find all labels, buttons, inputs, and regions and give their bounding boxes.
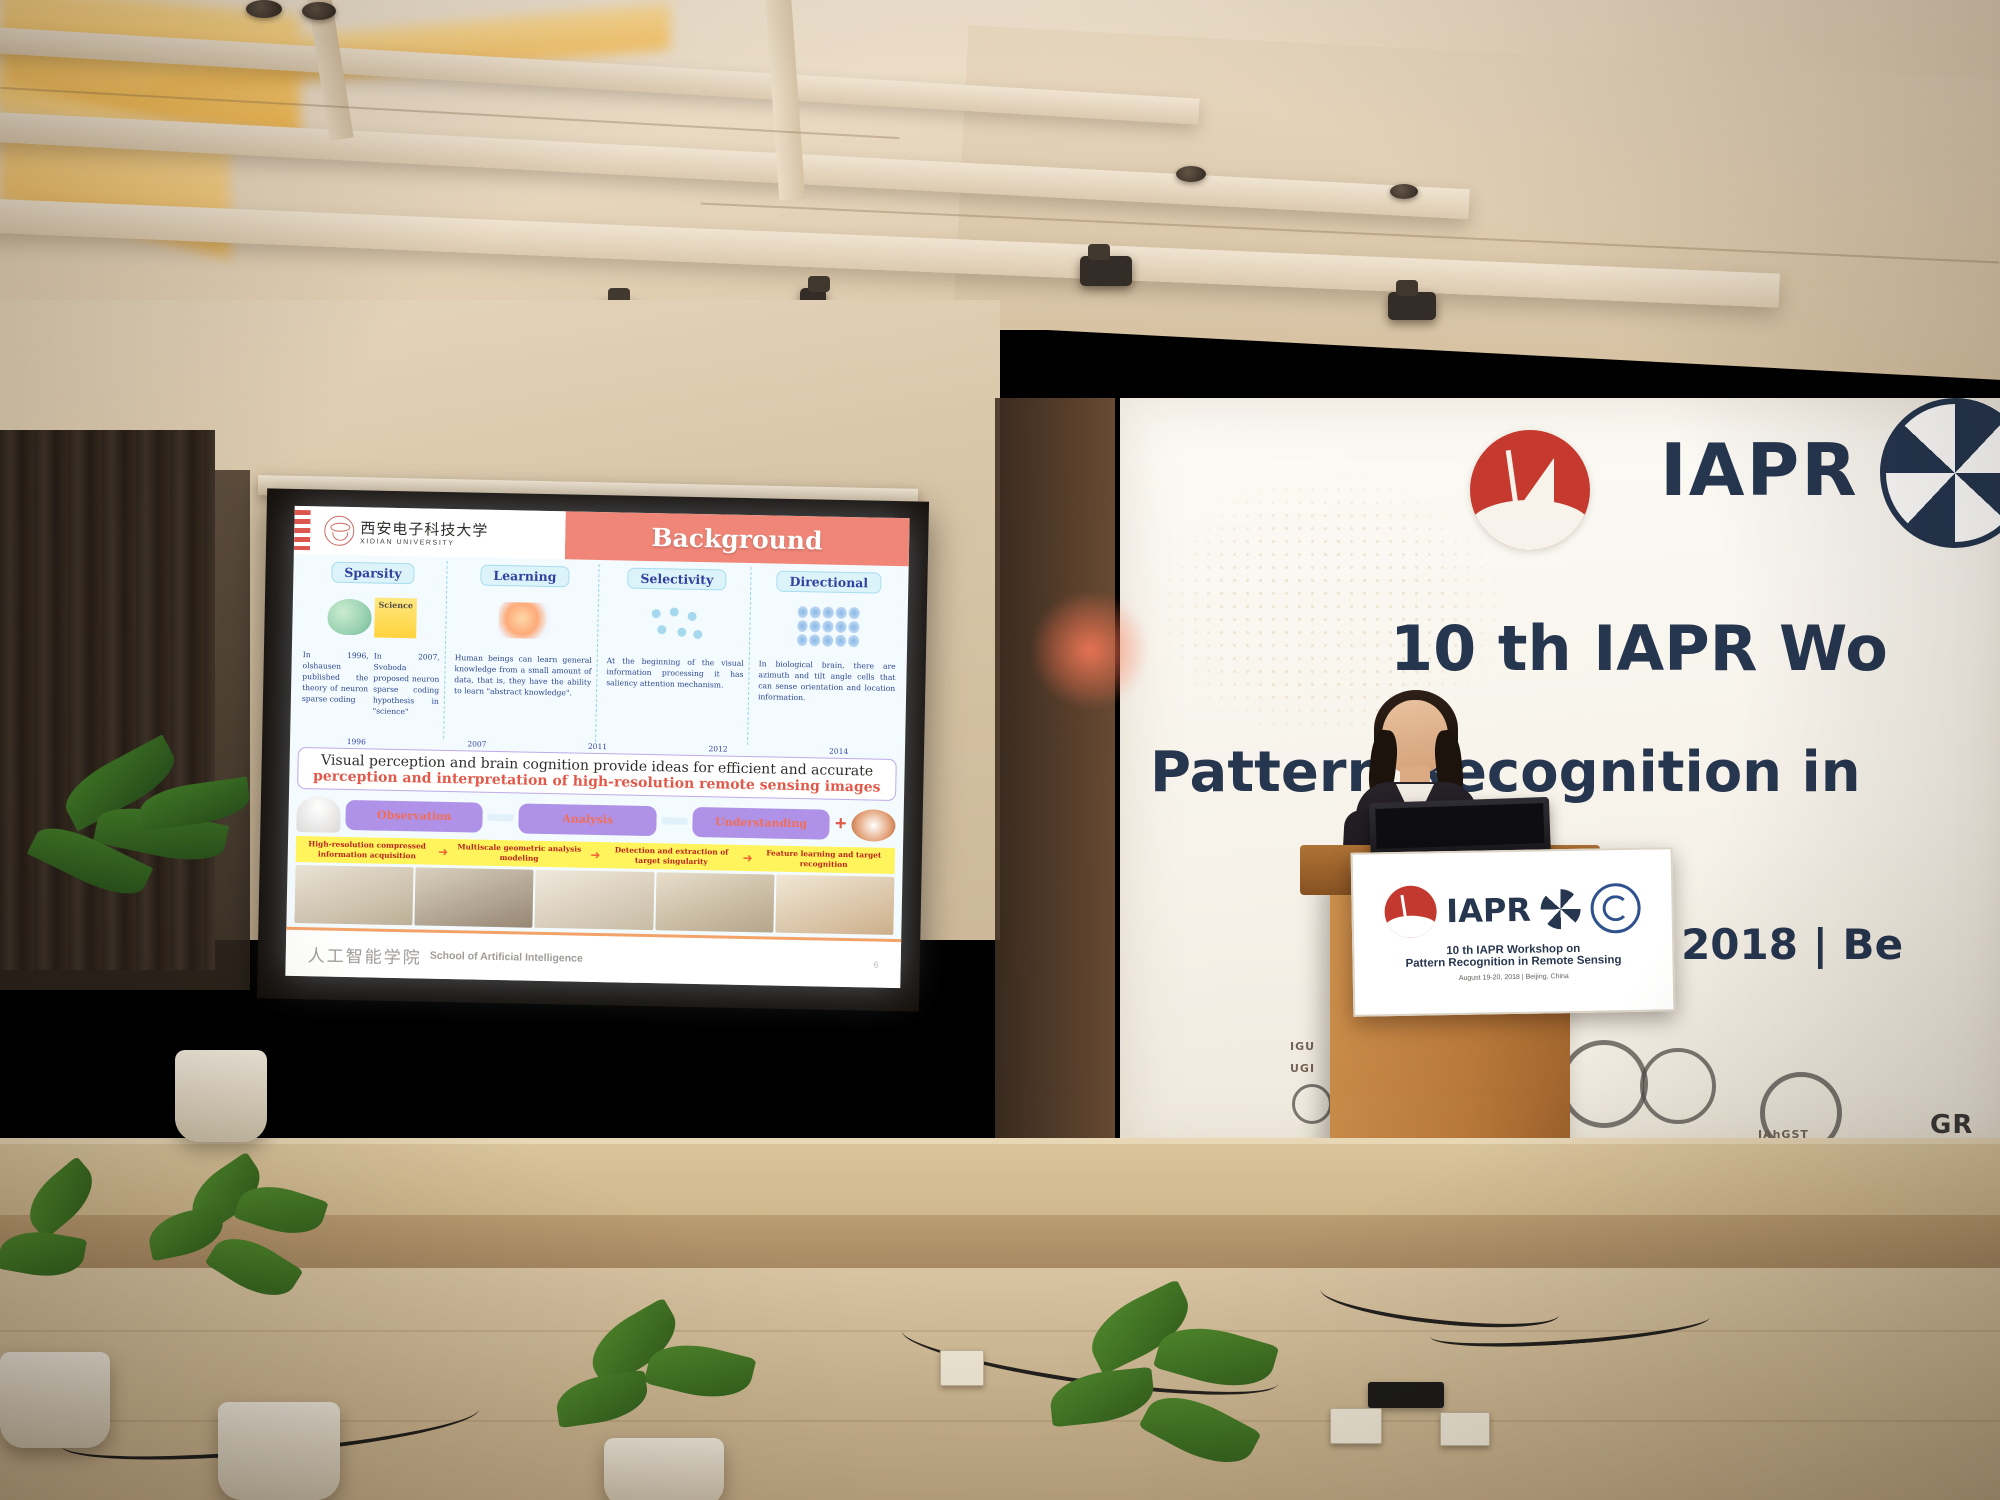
column-text: At the beginning of the visual informati… — [605, 653, 745, 691]
remote-sensing-photo — [775, 875, 894, 935]
column-images: Science — [302, 585, 442, 650]
downlight-icon — [1176, 166, 1206, 182]
sponsor-logo-icon — [1560, 1040, 1648, 1128]
remote-sensing-photo — [415, 867, 534, 927]
slide-photo-strip — [294, 865, 894, 935]
timeline-year: 2007 — [417, 738, 538, 749]
plus-icon: + — [835, 813, 847, 836]
slide-stripe-decoration — [294, 510, 311, 550]
cable-connector-box — [1368, 1382, 1444, 1408]
saliency-diagram-icon — [647, 605, 706, 642]
flow-stage-analysis: Analysis — [519, 803, 657, 836]
column-text: Human beings can learn general knowledge… — [453, 650, 593, 699]
iapr-wordmark: IAPR — [1660, 428, 1859, 512]
remote-sensing-photo — [655, 872, 774, 932]
lens-flare — [1030, 590, 1150, 710]
floor-monitor-light — [940, 1350, 984, 1386]
iapr-wordmark: IAPR — [1446, 890, 1531, 929]
planter-pot — [0, 1352, 110, 1448]
timeline-year: 2011 — [537, 741, 658, 752]
eye-illustration-icon — [851, 809, 896, 842]
reis-logo-icon — [1384, 885, 1437, 938]
learning-diagram-icon — [498, 602, 551, 639]
slide-column-sparsity: Sparsity Science In 1996, olshausen publ… — [296, 558, 448, 739]
conference-photo: IAPR 10 th IAPR Wo Pattern Recognition i… — [0, 0, 2000, 1500]
flow-stage-observation: Observation — [345, 799, 483, 832]
column-text: In biological brain, there are azimuth a… — [757, 656, 897, 705]
footer-school-cn: 人工智能学院 — [308, 941, 422, 968]
lectern-sign-details: August 19-20, 2018 | Beijing, China — [1459, 973, 1569, 982]
slide-logo-area: 西安电子科技大学 XIDIAN UNIVERSITY — [294, 506, 566, 559]
backdrop-title-line2: Pattern Recognition in — [1150, 740, 1861, 805]
satellite-dish-icon — [296, 795, 341, 832]
flow-caption: Feature learning and target recognition — [754, 848, 893, 871]
downlight-icon — [246, 0, 282, 18]
column-heading: Learning — [480, 565, 569, 588]
lectern-sign-title-2: Pattern Recognition in Remote Sensing — [1405, 954, 1621, 970]
flow-connector — [488, 814, 514, 822]
column-heading: Selectivity — [627, 568, 726, 591]
brain-illustration-icon — [327, 599, 372, 636]
slide-four-column-grid: Sparsity Science In 1996, olshausen publ… — [290, 554, 909, 748]
column-heading: Sparsity — [331, 562, 415, 585]
slide-column-directional: Directional In biological brain, there a… — [752, 567, 903, 748]
partner-logo-icon — [1591, 882, 1642, 933]
column-text-a: In 1996, olshausen published the theory … — [301, 647, 370, 716]
stage-spotlight-icon — [1080, 256, 1132, 286]
xidian-seal-icon — [324, 515, 355, 546]
slide-column-selectivity: Selectivity At the beginning of the visu… — [600, 564, 752, 745]
planter-pot — [218, 1402, 340, 1500]
ceiling-soffit — [953, 25, 2000, 382]
university-name-cn: 西安电子科技大学 — [360, 517, 488, 541]
planter-pot — [604, 1438, 724, 1500]
column-images — [606, 591, 746, 656]
remote-sensing-photo — [294, 865, 413, 925]
science-journal-cover-icon: Science — [374, 598, 417, 639]
slide-title-bar: Background — [564, 511, 909, 566]
backdrop-title-line1: 10 th IAPR Wo — [1390, 612, 1888, 685]
projected-slide: 西安电子科技大学 XIDIAN UNIVERSITY Background Sp… — [285, 506, 909, 988]
reis-logo-icon — [1470, 430, 1590, 550]
flow-caption: Detection and extraction of target singu… — [602, 845, 741, 868]
remote-sensing-photo — [535, 870, 654, 930]
column-images — [454, 588, 594, 653]
floor-monitor-light — [1330, 1408, 1382, 1444]
stage-edge — [0, 1138, 2000, 1144]
downlight-icon — [1390, 184, 1418, 199]
lectern-sign-logos: IAPR — [1384, 881, 1642, 937]
arrow-right-icon: ➜ — [588, 848, 602, 862]
slide-page-number: 6 — [874, 960, 879, 970]
planter-pot — [175, 1050, 267, 1142]
arrow-right-icon: ➜ — [436, 845, 450, 859]
sponsor-label-gr: GR — [1930, 1110, 1973, 1140]
flow-caption: High-resolution compressed information a… — [298, 839, 437, 862]
sponsor-logo-icon — [1640, 1048, 1716, 1124]
timeline-year: 1996 — [296, 736, 417, 747]
column-heading: Directional — [776, 571, 881, 594]
gabor-filter-grid-icon — [797, 606, 860, 647]
sponsor-label-ugi: UGI — [1290, 1062, 1315, 1075]
flow-connector — [661, 817, 687, 825]
flow-stage-understanding: Understanding — [692, 806, 830, 839]
timeline-year: 2014 — [778, 746, 899, 757]
arrow-right-icon: ➜ — [740, 851, 754, 865]
flow-caption: Multiscale geometric analysis modeling — [450, 842, 589, 865]
footer-school-en: School of Artificial Intelligence — [430, 950, 583, 965]
lectern-sign: IAPR 10 th IAPR Workshop on Pattern Reco… — [1351, 847, 1676, 1017]
downlight-icon — [302, 2, 336, 20]
sponsor-label-igu: IGU — [1290, 1040, 1315, 1053]
slide-column-learning: Learning Human beings can learn general … — [448, 561, 600, 742]
column-text-b: In 2007, Svoboda proposed neuron sparse … — [372, 648, 441, 717]
sponsor-globe-icon — [1292, 1084, 1332, 1124]
floor-monitor-light — [1440, 1412, 1490, 1446]
iapr-spiral-icon — [1541, 888, 1582, 929]
column-images — [758, 594, 898, 659]
stage-spotlight-icon — [1388, 292, 1436, 320]
timeline-year: 2012 — [658, 743, 779, 754]
slide-title: Background — [651, 523, 823, 555]
